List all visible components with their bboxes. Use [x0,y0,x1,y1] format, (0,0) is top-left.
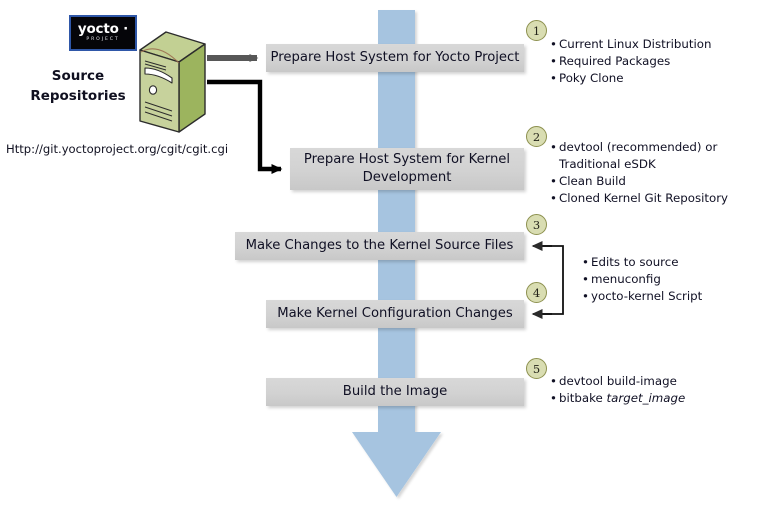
step-number-badge-2: 2 [526,126,547,147]
bullet-dot: • [550,139,559,156]
bullet-text: Current Linux Distribution [559,36,765,53]
step-box-make-kernel-source-changes[interactable]: Make Changes to the Kernel Source Files [235,232,524,260]
bullet-dot: • [550,53,559,70]
bullet-dot: • [550,190,559,207]
bullet-text: devtool build-image [559,373,765,390]
step-number-text: 1 [533,24,540,38]
step-number-text: 4 [533,286,540,300]
bullet-text: Edits to source [591,254,767,271]
step2-bullet-list: • devtool (recommended) or Traditional e… [550,139,765,207]
steps34-shared-bullet-list: • Edits to source • menuconfig • yocto-k… [582,254,767,305]
step-box-build-the-image[interactable]: Build the Image [266,378,524,406]
step-number-badge-1: 1 [526,20,547,41]
step-number-badge-5: 5 [526,358,547,379]
bullet-item: • Clean Build [550,173,765,190]
step-box-label: Prepare Host System for Yocto Project [271,49,520,67]
server-tower-icon [136,28,208,138]
bullet-item: • devtool (recommended) or Traditional e… [550,139,765,173]
bullet-text: menuconfig [591,271,767,288]
step-box-make-kernel-config-changes[interactable]: Make Kernel Configuration Changes [266,300,524,328]
source-repositories-label-line1: Source [18,66,138,86]
step-number-text: 2 [533,130,540,144]
bullet-dot: • [550,36,559,53]
step-box-label: Make Kernel Configuration Changes [277,305,513,323]
bullet-item: • Edits to source [582,254,767,271]
bullet-text: yocto-kernel Script [591,288,767,305]
logo-subtext: PROJECT [86,38,119,43]
logo-wordmark: yocto · [78,23,128,37]
bullet-item: • Cloned Kernel Git Repository [550,190,765,207]
bullet-dot: • [550,390,559,407]
step-number-text: 3 [533,218,540,232]
bullet-dot: • [582,271,591,288]
bullet-dot: • [550,70,559,87]
step-number-badge-4: 4 [526,282,547,303]
yocto-project-logo: yocto · PROJECT [69,15,137,51]
bullet-text-italic: target_image [607,391,686,405]
bullet-item: • Required Packages [550,53,765,70]
bullet-dot: • [582,288,591,305]
step5-bullet-list: • devtool build-image • bitbake target_i… [550,373,765,407]
step-box-label: Build the Image [343,383,447,401]
bullet-item: • devtool build-image [550,373,765,390]
source-repositories-label: Source Repositories [18,66,138,106]
bullet-text: Poky Clone [559,70,765,87]
step-number-badge-3: 3 [526,214,547,235]
bullet-item: • menuconfig [582,271,767,288]
step-box-label: Prepare Host System for Kernel Developme… [290,151,524,187]
bullet-text: Cloned Kernel Git Repository [559,190,765,207]
step-box-label: Make Changes to the Kernel Source Files [246,237,514,255]
bullet-item: • Current Linux Distribution [550,36,765,53]
source-repositories-label-line2: Repositories [18,86,138,106]
bullet-item: • Poky Clone [550,70,765,87]
step-box-prepare-host-kernel[interactable]: Prepare Host System for Kernel Developme… [290,148,524,190]
bullet-item: • bitbake target_image [550,390,765,407]
bullet-dot: • [550,173,559,190]
bullet-dot: • [550,373,559,390]
diagram-canvas: yocto · PROJECT Source Repositories Http… [0,0,769,517]
bullet-dot: • [582,254,591,271]
step-box-prepare-host-yocto[interactable]: Prepare Host System for Yocto Project [266,44,524,72]
bullet-text: Required Packages [559,53,765,70]
step-number-text: 5 [533,362,540,376]
feedback-bracket-steps-3-4 [536,246,563,314]
step1-bullet-list: • Current Linux Distribution • Required … [550,36,765,87]
bullet-text: devtool (recommended) or Traditional eSD… [559,139,765,173]
repository-url-text: Http://git.yoctoproject.org/cgit/cgit.cg… [6,142,228,156]
bullet-text: Clean Build [559,173,765,190]
bullet-text: bitbake [559,391,607,405]
bullet-item: • yocto-kernel Script [582,288,767,305]
bullet-text-composite: bitbake target_image [559,390,765,407]
